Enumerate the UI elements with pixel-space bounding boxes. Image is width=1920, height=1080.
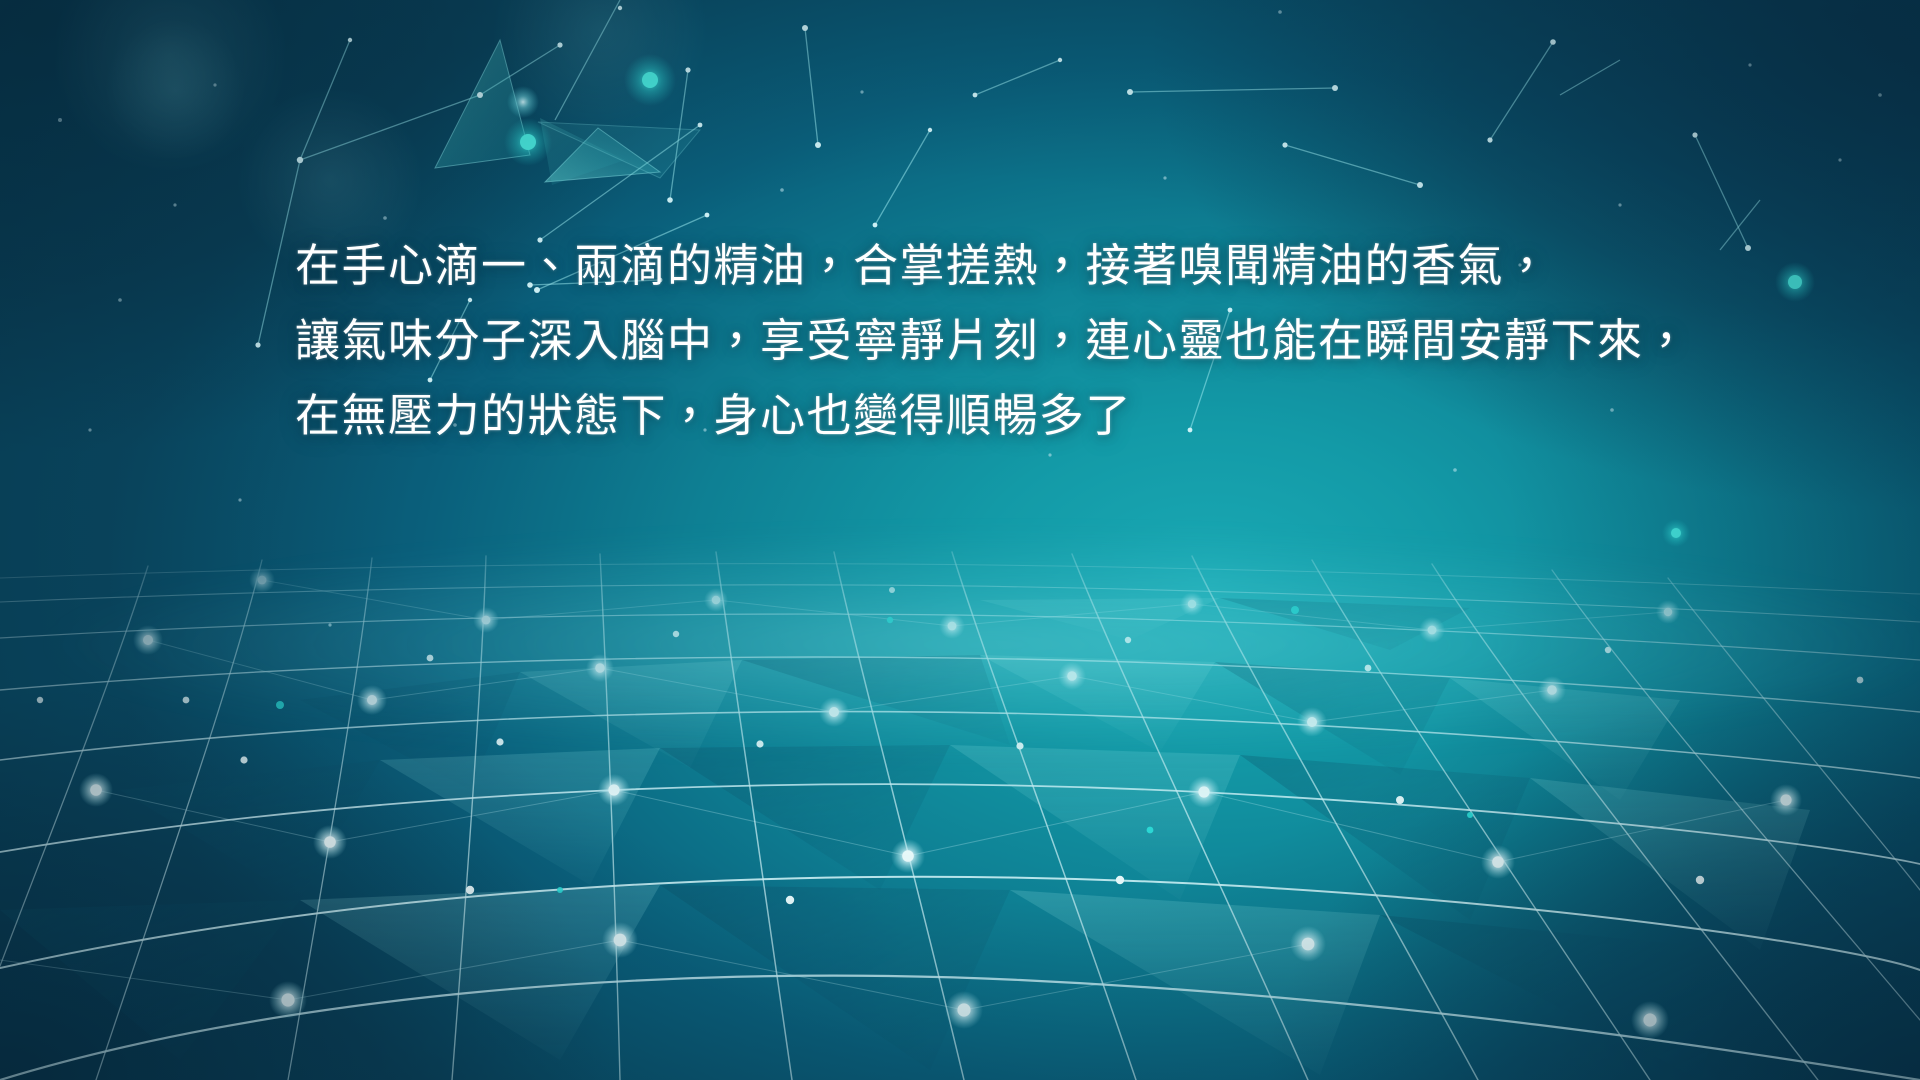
caption-line-1: 在手心滴一、兩滴的精油，合掌搓熱，接著嗅聞精油的香氣， xyxy=(295,228,1715,303)
caption-line-3: 在無壓力的狀態下，身心也變得順暢多了 xyxy=(295,378,1715,453)
caption-text-block: 在手心滴一、兩滴的精油，合掌搓熱，接著嗅聞精油的香氣， 讓氣味分子深入腦中，享受… xyxy=(295,228,1715,453)
caption-line-2: 讓氣味分子深入腦中，享受寧靜片刻，連心靈也能在瞬間安靜下來， xyxy=(295,303,1715,378)
background-vignette xyxy=(0,0,1920,1080)
slide-canvas: 在手心滴一、兩滴的精油，合掌搓熱，接著嗅聞精油的香氣， 讓氣味分子深入腦中，享受… xyxy=(0,0,1920,1080)
